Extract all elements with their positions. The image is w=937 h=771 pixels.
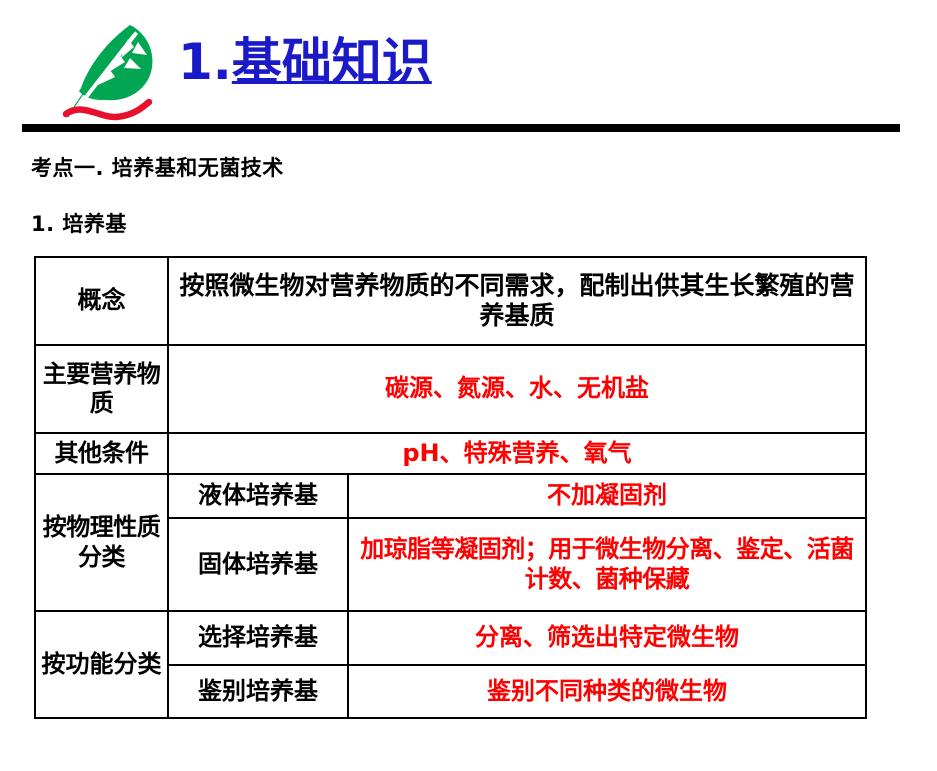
table-row: 按物理性质分类 液体培养基 不加凝固剂 — [35, 474, 866, 518]
section-heading: 考点一. 培养基和无菌技术 — [31, 152, 284, 182]
row-value: 鉴别不同种类的微生物 — [348, 665, 866, 718]
row-value: pH、特殊营养、氧气 — [168, 433, 866, 474]
row-sublabel: 选择培养基 — [168, 611, 348, 665]
row-value: 加琼脂等凝固剂；用于微生物分离、鉴定、活菌计数、菌种保藏 — [348, 518, 866, 611]
table-row: 其他条件 pH、特殊营养、氧气 — [35, 433, 866, 474]
row-label: 概念 — [35, 257, 168, 345]
page-title: 1.基础知识 — [178, 33, 432, 91]
row-label: 其他条件 — [35, 433, 168, 474]
row-sublabel: 固体培养基 — [168, 518, 348, 611]
row-sublabel: 液体培养基 — [168, 474, 348, 518]
row-value: 不加凝固剂 — [348, 474, 866, 518]
leaf-icon — [52, 22, 170, 122]
row-label: 主要营养物质 — [35, 345, 168, 433]
row-label: 按物理性质分类 — [35, 474, 168, 611]
row-value: 按照微生物对营养物质的不同需求，配制出供其生长繁殖的营养基质 — [168, 257, 866, 345]
culture-medium-table: 概念 按照微生物对营养物质的不同需求，配制出供其生长繁殖的营养基质 主要营养物质… — [34, 256, 867, 719]
table-row: 主要营养物质 碳源、氮源、水、无机盐 — [35, 345, 866, 433]
table-row: 概念 按照微生物对营养物质的不同需求，配制出供其生长繁殖的营养基质 — [35, 257, 866, 345]
row-sublabel: 鉴别培养基 — [168, 665, 348, 718]
slide-header: 1.基础知识 — [0, 0, 937, 135]
subsection-heading: 1. 培养基 — [31, 208, 127, 238]
row-value: 分离、筛选出特定微生物 — [348, 611, 866, 665]
title-divider — [22, 124, 900, 132]
row-value: 碳源、氮源、水、无机盐 — [168, 345, 866, 433]
table-row: 按功能分类 选择培养基 分离、筛选出特定微生物 — [35, 611, 866, 665]
page-title-text: 基础知识 — [232, 33, 432, 91]
row-label: 按功能分类 — [35, 611, 168, 718]
page-title-number: 1. — [178, 33, 232, 91]
